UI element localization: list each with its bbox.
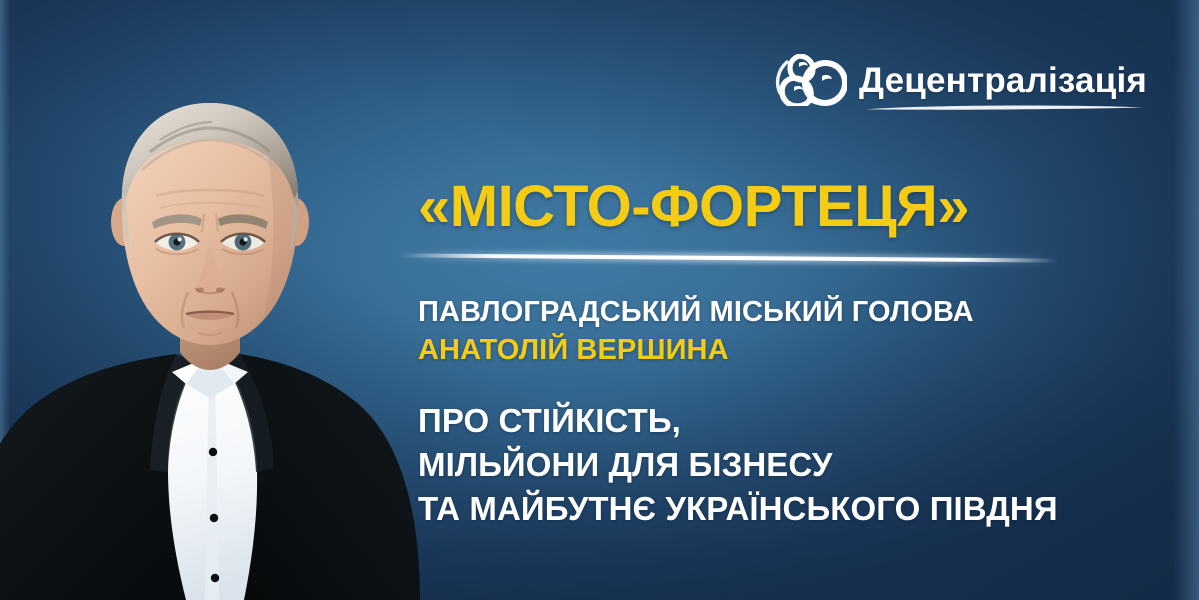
speaker-name: АНАТОЛІЙ ВЕРШИНА	[418, 332, 1118, 370]
speaker-portrait	[0, 0, 420, 600]
headline-title: «МІСТО-ФОРТЕЦЯ»	[418, 178, 1118, 236]
topic-line-2: МІЛЬЙОНИ ДЛЯ БІЗНЕСУ	[418, 443, 1118, 487]
background-edge-right	[1173, 0, 1199, 600]
decentralization-logo[interactable]: Децентралізація	[775, 54, 1147, 106]
speaker-position: ПАВЛОГРАДСЬКИЙ МІСЬКИЙ ГОЛОВА	[418, 294, 1118, 332]
portrait-torso	[0, 350, 420, 600]
logo-text: Децентралізація	[859, 61, 1147, 100]
logo-underline-stroke	[863, 98, 1145, 105]
promo-banner: Децентралізація «МІСТО-ФОРТЕЦЯ» ПАВЛОГРА…	[0, 0, 1199, 600]
speaker-role-block: ПАВЛОГРАДСЬКИЙ МІСЬКИЙ ГОЛОВА АНАТОЛІЙ В…	[418, 294, 1118, 369]
portrait-head	[119, 98, 310, 350]
topic-line-1: ПРО СТІЙКІСТЬ,	[418, 399, 1118, 443]
title-divider	[400, 252, 1058, 266]
decentralization-swirl-icon	[775, 54, 847, 106]
topic-line-3: ТА МАЙБУТНЄ УКРАЇНСЬКОГО ПІВДНЯ	[418, 487, 1118, 531]
logo-wordmark-wrapper: Децентралізація	[859, 63, 1147, 98]
topics-block: ПРО СТІЙКІСТЬ, МІЛЬЙОНИ ДЛЯ БІЗНЕСУ ТА М…	[418, 399, 1118, 531]
content-block: «МІСТО-ФОРТЕЦЯ» ПАВЛОГРАДСЬКИЙ МІСЬКИЙ Г…	[418, 178, 1118, 531]
